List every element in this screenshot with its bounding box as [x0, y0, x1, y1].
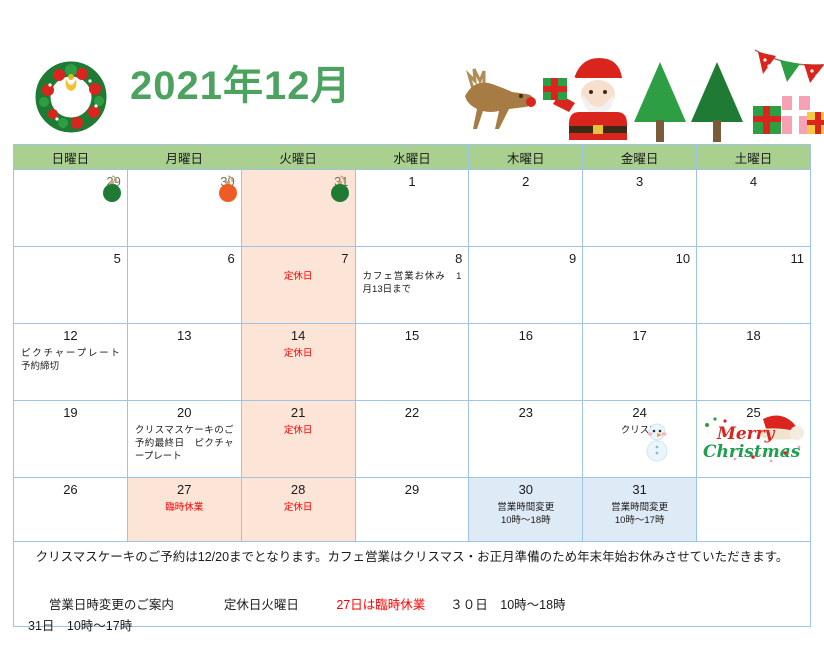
christmas-wreath-icon: [33, 57, 109, 133]
weekday-header-tuesday: 火曜日: [241, 145, 355, 170]
calendar-day-cell-16[interactable]: 16: [469, 324, 583, 401]
day-number: 7: [242, 247, 355, 267]
day-number: 30: [469, 478, 582, 498]
calendar-day-cell-23[interactable]: 23: [469, 401, 583, 478]
footer-note-secondary: 営業日時変更のご案内 定休日火曜日 27日は臨時休業 ３０日 10時〜18時 3…: [28, 574, 798, 658]
day-number: 26: [14, 478, 127, 498]
green-ornament-icon: [100, 174, 124, 204]
day-number: 6: [128, 247, 241, 267]
calendar-day-cell-29[interactable]: 29: [14, 170, 128, 247]
calendar-day-cell-12[interactable]: 12ピクチャープレート 予約締切: [14, 324, 128, 401]
footer-temporary-closure: 27日は臨時休業: [336, 598, 425, 612]
calendar-day-cell-22[interactable]: 22: [355, 401, 469, 478]
day-number: 8: [356, 247, 469, 267]
day-number: 24: [583, 401, 696, 421]
day-number: 14: [242, 324, 355, 344]
calendar-day-cell-25[interactable]: 25MerryChristmas: [697, 401, 811, 478]
calendar-day-cell-1[interactable]: 1: [355, 170, 469, 247]
day-number: 4: [697, 170, 810, 190]
calendar-week-row: 12ピクチャープレート 予約締切1314定休日15161718: [14, 324, 811, 401]
day-number: 1: [356, 170, 469, 190]
footer-hours-label: 営業日時変更のご案内 定休日火曜日: [49, 598, 337, 612]
calendar-header: 2021年12月: [0, 0, 824, 143]
tree-icon: [691, 62, 743, 142]
weekday-header-row: 日曜日 月曜日 火曜日 水曜日 木曜日 金曜日 土曜日: [14, 145, 811, 170]
footer-notes-box: クリスマスケーキのご予約は12/20までとなります。カフェ営業はクリスマス・お正…: [13, 541, 811, 627]
calendar-day-cell-6[interactable]: 6: [127, 247, 241, 324]
weekday-header-monday: 月曜日: [127, 145, 241, 170]
day-number: 15: [356, 324, 469, 344]
merry-christmas-icon: MerryChristmas: [701, 413, 807, 465]
calendar-day-cell-18[interactable]: 18: [697, 324, 811, 401]
weekday-header-sunday: 日曜日: [14, 145, 128, 170]
calendar-week-row: 567定休日8カフェ営業お休み 1月13日まで91011: [14, 247, 811, 324]
day-number: 21: [242, 401, 355, 421]
calendar-day-cell-19[interactable]: 19: [14, 401, 128, 478]
orange-ornament-icon: [216, 174, 240, 204]
calendar-day-cell-2[interactable]: 2: [469, 170, 583, 247]
tree-icon: [634, 62, 686, 142]
day-number: 12: [14, 324, 127, 344]
day-number: 19: [14, 401, 127, 421]
calendar-day-cell-30[interactable]: 30: [127, 170, 241, 247]
calendar-day-cell-31[interactable]: 31: [241, 170, 355, 247]
calendar-day-cell-11[interactable]: 11: [697, 247, 811, 324]
day-number: 17: [583, 324, 696, 344]
weekday-header-wednesday: 水曜日: [355, 145, 469, 170]
day-note: 営業時間変更 10時〜18時: [469, 498, 582, 527]
calendar-day-cell-4[interactable]: 4: [697, 170, 811, 247]
svg-text:Merry: Merry: [716, 424, 776, 444]
weekday-header-thursday: 木曜日: [469, 145, 583, 170]
day-number: 3: [583, 170, 696, 190]
day-note: 定休日: [242, 421, 355, 437]
day-number: 31: [583, 478, 696, 498]
day-number: 20: [128, 401, 241, 421]
day-number: 16: [469, 324, 582, 344]
calendar-day-cell-10[interactable]: 10: [583, 247, 697, 324]
day-note: 定休日: [242, 498, 355, 514]
calendar-day-cell-21[interactable]: 21定休日: [241, 401, 355, 478]
snowman-icon: [644, 422, 670, 462]
day-note: 営業時間変更 10時〜17時: [583, 498, 696, 527]
calendar-day-cell-15[interactable]: 15: [355, 324, 469, 401]
day-number: 11: [697, 247, 810, 267]
gift-boxes-icon: [753, 96, 824, 134]
header-decorations: [455, 34, 824, 143]
calendar-day-cell-13[interactable]: 13: [127, 324, 241, 401]
reindeer-icon: [465, 69, 536, 129]
page-title: 2021年12月: [130, 62, 351, 110]
day-note: クリスマ: [583, 421, 696, 437]
calendar-week-row: 2930311234: [14, 170, 811, 247]
calendar-body: 2930311234567定休日8カフェ営業お休み 1月13日まで9101112…: [14, 170, 811, 555]
calendar-day-cell-24[interactable]: 24クリスマ: [583, 401, 697, 478]
calendar-day-cell-8[interactable]: 8カフェ営業お休み 1月13日まで: [355, 247, 469, 324]
calendar-day-cell-20[interactable]: 20クリスマスケーキのご予約最終日 ピクチャープレート: [127, 401, 241, 478]
calendar-day-cell-7[interactable]: 7定休日: [241, 247, 355, 324]
day-number: 9: [469, 247, 582, 267]
day-note: 臨時休業: [128, 498, 241, 514]
footer-note-primary: クリスマスケーキのご予約は12/20までとなります。カフェ営業はクリスマス・お正…: [14, 548, 810, 566]
day-number: 28: [242, 478, 355, 498]
day-number: 23: [469, 401, 582, 421]
day-number: 22: [356, 401, 469, 421]
day-number: 2: [469, 170, 582, 190]
weekday-header-saturday: 土曜日: [697, 145, 811, 170]
bunting-icon: [755, 50, 824, 83]
calendar-day-cell-3[interactable]: 3: [583, 170, 697, 247]
day-number: 5: [14, 247, 127, 267]
day-number: 29: [356, 478, 469, 498]
day-note: 定休日: [242, 344, 355, 360]
calendar-day-cell-14[interactable]: 14定休日: [241, 324, 355, 401]
day-number: 27: [128, 478, 241, 498]
day-note: ピクチャープレート 予約締切: [14, 344, 127, 373]
calendar-day-cell-17[interactable]: 17: [583, 324, 697, 401]
santa-icon: [543, 58, 627, 140]
day-number: 18: [697, 324, 810, 344]
calendar-day-cell-9[interactable]: 9: [469, 247, 583, 324]
christmas-calendar-page: 2021年12月: [0, 0, 824, 670]
calendar-day-cell-5[interactable]: 5: [14, 247, 128, 324]
weekday-header-friday: 金曜日: [583, 145, 697, 170]
calendar-table: 日曜日 月曜日 火曜日 水曜日 木曜日 金曜日 土曜日 293031123456…: [13, 144, 811, 555]
day-note: 定休日: [242, 267, 355, 283]
calendar-week-row: 1920クリスマスケーキのご予約最終日 ピクチャープレート21定休日222324…: [14, 401, 811, 478]
day-number: 13: [128, 324, 241, 344]
day-number: 10: [583, 247, 696, 267]
day-note: カフェ営業お休み 1月13日まで: [356, 267, 469, 296]
day-note: クリスマスケーキのご予約最終日 ピクチャープレート: [128, 421, 241, 463]
green-ornament-icon: [328, 174, 352, 204]
